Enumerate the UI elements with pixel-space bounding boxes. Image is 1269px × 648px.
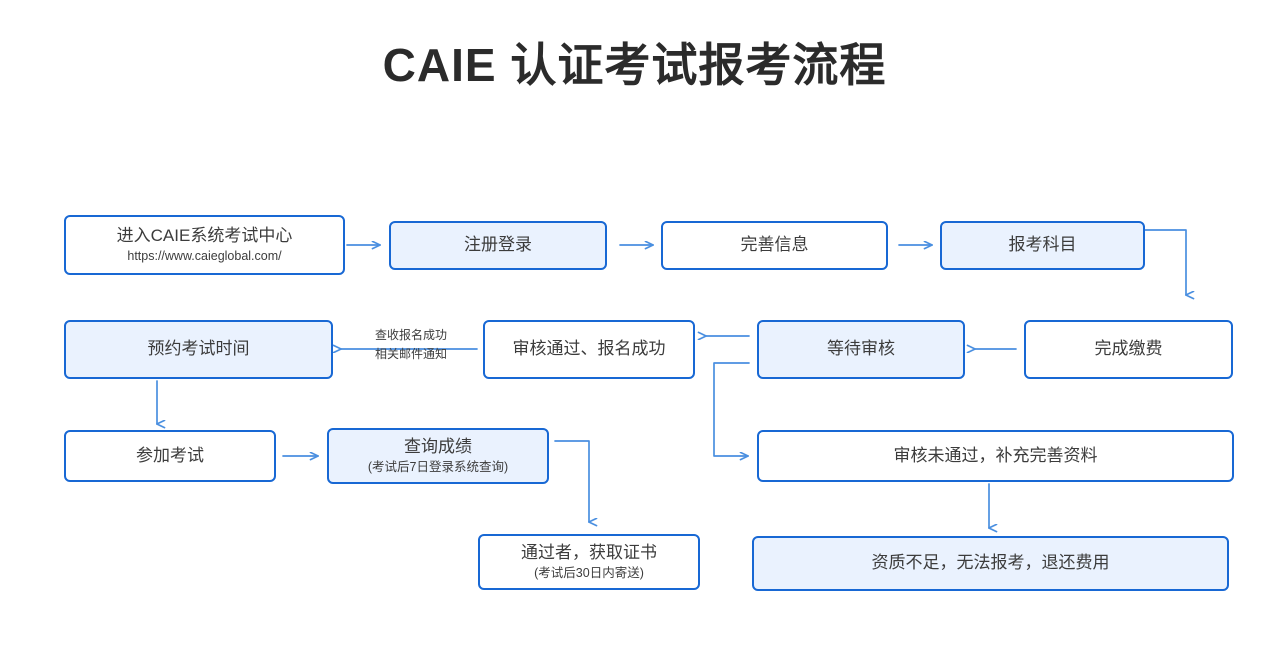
- node-check-score[interactable]: 查询成绩 (考试后7日登录系统查询): [327, 428, 549, 484]
- node-get-certificate[interactable]: 通过者，获取证书 (考试后30日内寄送): [478, 534, 700, 590]
- node-take-exam-label: 参加考试: [136, 445, 204, 467]
- node-book-exam-time[interactable]: 预约考试时间: [64, 320, 333, 379]
- node-complete-info-label: 完善信息: [741, 234, 809, 256]
- node-take-exam[interactable]: 参加考试: [64, 430, 276, 482]
- node-complete-payment[interactable]: 完成缴费: [1024, 320, 1233, 379]
- elbow-awaiting-to-failed: [714, 363, 749, 456]
- node-complete-info[interactable]: 完善信息: [661, 221, 888, 270]
- node-apply-subject-label: 报考科目: [1009, 234, 1077, 256]
- node-register-login[interactable]: 注册登录: [389, 221, 607, 270]
- node-review-passed-label: 审核通过、报名成功: [513, 338, 666, 360]
- node-get-certificate-sub: (考试后30日内寄送): [534, 565, 644, 581]
- node-awaiting-review[interactable]: 等待审核: [757, 320, 965, 379]
- node-check-score-label: 查询成绩: [404, 436, 472, 458]
- edge-label-mail-notice-line1: 查收报名成功: [357, 327, 465, 343]
- node-complete-payment-label: 完成缴费: [1095, 338, 1163, 360]
- node-not-qualified-label: 资质不足，无法报考，退还费用: [872, 552, 1110, 574]
- node-apply-subject[interactable]: 报考科目: [940, 221, 1145, 270]
- node-check-score-sub: (考试后7日登录系统查询): [368, 459, 508, 475]
- node-review-failed-label: 审核未通过，补充完善资料: [894, 445, 1098, 467]
- node-awaiting-review-label: 等待审核: [827, 338, 895, 360]
- page-title: CAIE 认证考试报考流程: [0, 38, 1269, 93]
- node-enter-system-url: https://www.caieglobal.com/: [127, 248, 281, 264]
- node-book-exam-time-label: 预约考试时间: [148, 338, 250, 360]
- edge-label-mail-notice-line2: 相关邮件通知: [357, 346, 465, 362]
- elbow-score-to-certificate: [555, 441, 589, 522]
- node-review-failed[interactable]: 审核未通过，补充完善资料: [757, 430, 1234, 482]
- flowchart-page: CAIE 认证考试报考流程: [0, 0, 1269, 648]
- elbow-subject-to-payment: [1145, 230, 1186, 295]
- node-enter-system-label: 进入CAIE系统考试中心: [117, 225, 293, 247]
- node-get-certificate-label: 通过者，获取证书: [521, 542, 657, 564]
- node-not-qualified[interactable]: 资质不足，无法报考，退还费用: [752, 536, 1229, 591]
- node-register-login-label: 注册登录: [464, 234, 532, 256]
- edge-label-mail-notice: 查收报名成功 相关邮件通知: [357, 327, 465, 362]
- node-review-passed[interactable]: 审核通过、报名成功: [483, 320, 695, 379]
- node-enter-system[interactable]: 进入CAIE系统考试中心 https://www.caieglobal.com/: [64, 215, 345, 275]
